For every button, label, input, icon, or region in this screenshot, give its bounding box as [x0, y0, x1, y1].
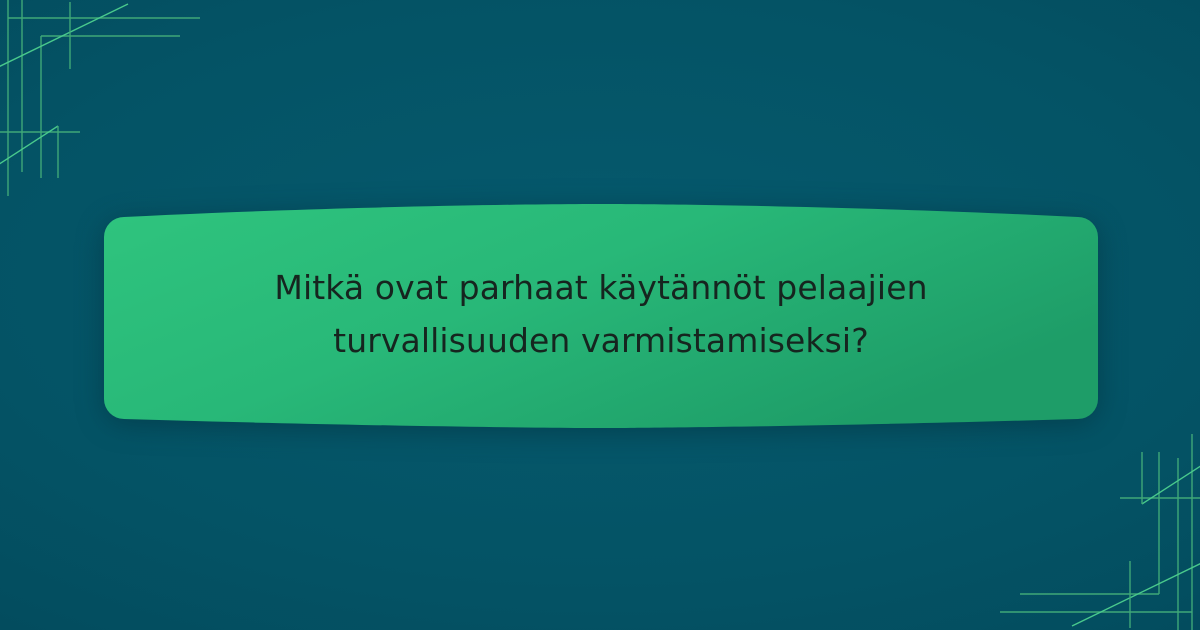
question-line-1: Mitkä ovat parhaat käytännöt pelaajien [274, 261, 927, 314]
question-card: Mitkä ovat parhaat käytännöt pelaajien t… [102, 203, 1100, 429]
banner-canvas: Mitkä ovat parhaat käytännöt pelaajien t… [0, 0, 1200, 630]
question-line-2: turvallisuuden varmistamiseksi? [333, 314, 869, 367]
question-text-block: Mitkä ovat parhaat käytännöt pelaajien t… [102, 203, 1100, 429]
